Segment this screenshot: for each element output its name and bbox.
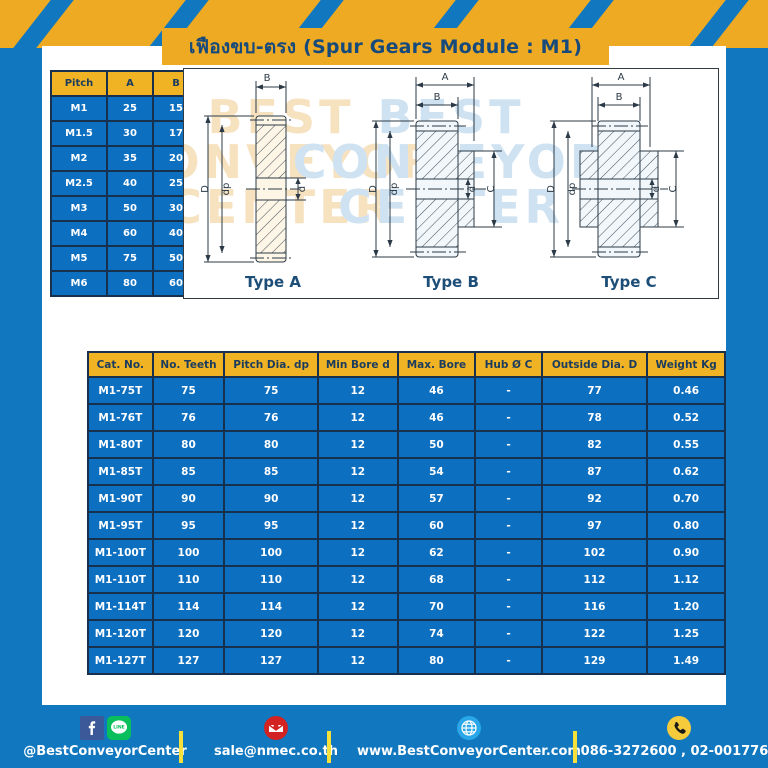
cell-weight: 1.25	[648, 621, 724, 646]
dim-label-a: A	[618, 72, 625, 83]
gear-type-diagram-panel: BEST CONVEYOR CENTER BEST CONVEYOR CENTE…	[183, 68, 719, 299]
pitch-cell-name: M2	[52, 147, 106, 170]
dim-label-dp: dp	[389, 183, 400, 196]
dim-label-d-bore: d	[467, 186, 478, 192]
table-row: M4 60 40	[52, 222, 198, 245]
table-row: M2.5 40 25	[52, 172, 198, 195]
cell-no-teeth: 75	[154, 378, 224, 403]
cell-outside-dia: 116	[543, 594, 646, 619]
cell-outside-dia: 97	[543, 513, 646, 538]
footer-email[interactable]: sale@nmec.co.th	[196, 705, 356, 768]
cell-pitch-dia: 80	[225, 432, 317, 457]
cell-pitch-dia: 90	[225, 486, 317, 511]
cell-outside-dia: 122	[543, 621, 646, 646]
cell-weight: 1.12	[648, 567, 724, 592]
cell-hub-dia: -	[476, 594, 541, 619]
pitch-cell-name: M2.5	[52, 172, 106, 195]
dim-label-a: A	[442, 72, 449, 83]
cell-no-teeth: 95	[154, 513, 224, 538]
footer-divider	[327, 731, 331, 763]
phone-icon[interactable]	[666, 715, 692, 741]
cell-max-bore: 68	[399, 567, 475, 592]
pitch-table: Pitch A B M1 25 15 M1.5 30 17 M2	[50, 70, 200, 297]
spec-col-header-pitch-dia: Pitch Dia. dp	[225, 353, 317, 376]
table-row: M1-100T 100 100 12 62 - 102 0.90	[89, 540, 724, 565]
cell-cat-no: M1-90T	[89, 486, 152, 511]
table-row: M1-76T 76 76 12 46 - 78 0.52	[89, 405, 724, 430]
cell-hub-dia: -	[476, 378, 541, 403]
gear-diagram-type-b: A B D dp d C Type B	[362, 69, 540, 298]
table-row: M1-95T 95 95 12 60 - 97 0.80	[89, 513, 724, 538]
pitch-cell-name: M1	[52, 97, 106, 120]
table-row: M1-75T 75 75 12 46 - 77 0.46	[89, 378, 724, 403]
pitch-cell-a: 50	[108, 197, 152, 220]
cell-min-bore: 12	[319, 594, 397, 619]
cell-max-bore: 50	[399, 432, 475, 457]
cell-no-teeth: 110	[154, 567, 224, 592]
cell-hub-dia: -	[476, 540, 541, 565]
pitch-cell-name: M1.5	[52, 122, 106, 145]
dim-label-dp: dp	[221, 183, 232, 196]
table-row: M1 25 15	[52, 97, 198, 120]
cell-weight: 0.70	[648, 486, 724, 511]
page-title: เฟืองขบ-ตรง (Spur Gears Module : M1)	[189, 32, 582, 62]
cell-hub-dia: -	[476, 432, 541, 457]
cell-min-bore: 12	[319, 459, 397, 484]
cell-pitch-dia: 120	[225, 621, 317, 646]
table-row: M1-127T 127 127 12 80 - 129 1.49	[89, 648, 724, 673]
cell-max-bore: 70	[399, 594, 475, 619]
cell-min-bore: 12	[319, 405, 397, 430]
cell-max-bore: 80	[399, 648, 475, 673]
footer-divider	[573, 731, 577, 763]
pitch-cell-name: M4	[52, 222, 106, 245]
cell-cat-no: M1-80T	[89, 432, 152, 457]
table-row: M1-90T 90 90 12 57 - 92 0.70	[89, 486, 724, 511]
cell-weight: 1.20	[648, 594, 724, 619]
dim-label-d-bore: d	[651, 186, 662, 192]
cell-hub-dia: -	[476, 405, 541, 430]
cell-no-teeth: 127	[154, 648, 224, 673]
pitch-cell-name: M6	[52, 272, 106, 295]
cell-no-teeth: 80	[154, 432, 224, 457]
cell-outside-dia: 92	[543, 486, 646, 511]
table-row: M5 75 50	[52, 247, 198, 270]
dim-label-d-outside: D	[200, 185, 211, 193]
cell-pitch-dia: 85	[225, 459, 317, 484]
cell-no-teeth: 120	[154, 621, 224, 646]
pitch-cell-a: 60	[108, 222, 152, 245]
cell-max-bore: 54	[399, 459, 475, 484]
footer-divider	[179, 731, 183, 763]
pitch-cell-a: 35	[108, 147, 152, 170]
cell-hub-dia: -	[476, 486, 541, 511]
pitch-cell-a: 30	[108, 122, 152, 145]
table-row: M1-120T 120 120 12 74 - 122 1.25	[89, 621, 724, 646]
spec-col-header-max-bore: Max. Bore	[399, 353, 475, 376]
table-row: M6 80 60	[52, 272, 198, 295]
table-row: M1-85T 85 85 12 54 - 87 0.62	[89, 459, 724, 484]
cell-cat-no: M1-95T	[89, 513, 152, 538]
cell-min-bore: 12	[319, 486, 397, 511]
cell-outside-dia: 129	[543, 648, 646, 673]
cell-outside-dia: 87	[543, 459, 646, 484]
table-row: M1-114T 114 114 12 70 - 116 1.20	[89, 594, 724, 619]
cell-no-teeth: 114	[154, 594, 224, 619]
spec-col-header-hub-dia: Hub Ø C	[476, 353, 541, 376]
table-row: M1.5 30 17	[52, 122, 198, 145]
table-row: M2 35 20	[52, 147, 198, 170]
footer-website-label: www.BestConveyorCenter.com	[357, 744, 581, 759]
cell-weight: 0.46	[648, 378, 724, 403]
footer-phone-label: 086-3272600 , 02-0017766	[581, 744, 768, 759]
pitch-cell-a: 40	[108, 172, 152, 195]
cell-pitch-dia: 114	[225, 594, 317, 619]
spec-col-header-outside-dia: Outside Dia. D	[543, 353, 646, 376]
cell-min-bore: 12	[319, 648, 397, 673]
pitch-table-header-row: Pitch A B	[52, 72, 198, 95]
cell-max-bore: 74	[399, 621, 475, 646]
pitch-cell-name: M3	[52, 197, 106, 220]
cell-hub-dia: -	[476, 648, 541, 673]
dim-label-c: C	[486, 185, 497, 192]
cell-hub-dia: -	[476, 621, 541, 646]
gear-diagram-type-a: B D dp d Type A	[184, 69, 362, 298]
gear-type-label-a: Type A	[184, 273, 362, 291]
cell-max-bore: 62	[399, 540, 475, 565]
cell-min-bore: 12	[319, 567, 397, 592]
dim-label-d-outside: D	[368, 185, 379, 193]
cell-min-bore: 12	[319, 378, 397, 403]
cell-max-bore: 46	[399, 378, 475, 403]
footer-website[interactable]: www.BestConveyorCenter.com	[344, 705, 594, 768]
svg-text:LINE: LINE	[113, 724, 125, 730]
cell-min-bore: 12	[319, 540, 397, 565]
cell-pitch-dia: 75	[225, 378, 317, 403]
cell-pitch-dia: 100	[225, 540, 317, 565]
email-icon[interactable]	[263, 715, 289, 741]
cell-no-teeth: 90	[154, 486, 224, 511]
page-title-bar: เฟืองขบ-ตรง (Spur Gears Module : M1)	[162, 28, 609, 65]
spec-table-header-row: Cat. No. No. Teeth Pitch Dia. dp Min Bor…	[89, 353, 724, 376]
cell-max-bore: 46	[399, 405, 475, 430]
gear-type-label-b: Type B	[362, 273, 540, 291]
cell-pitch-dia: 76	[225, 405, 317, 430]
cell-cat-no: M1-100T	[89, 540, 152, 565]
line-icon[interactable]: LINE	[107, 716, 131, 740]
cell-weight: 0.52	[648, 405, 724, 430]
gear-diagram-type-c: A B D dp d C Type C	[540, 69, 718, 298]
cell-outside-dia: 77	[543, 378, 646, 403]
cell-hub-dia: -	[476, 567, 541, 592]
cell-weight: 1.49	[648, 648, 724, 673]
cell-pitch-dia: 110	[225, 567, 317, 592]
dim-label-d-outside: D	[546, 185, 557, 193]
pitch-cell-name: M5	[52, 247, 106, 270]
footer-email-label: sale@nmec.co.th	[214, 744, 338, 759]
gear-type-label-c: Type C	[540, 273, 718, 291]
pitch-col-header-pitch: Pitch	[52, 72, 106, 95]
table-row: M1-110T 110 110 12 68 - 112 1.12	[89, 567, 724, 592]
pitch-cell-a: 80	[108, 272, 152, 295]
cell-outside-dia: 78	[543, 405, 646, 430]
dim-label-b: B	[434, 92, 441, 103]
cell-hub-dia: -	[476, 459, 541, 484]
cell-cat-no: M1-120T	[89, 621, 152, 646]
spec-col-header-no-teeth: No. Teeth	[154, 353, 224, 376]
cell-max-bore: 60	[399, 513, 475, 538]
spec-col-header-min-bore: Min Bore d	[319, 353, 397, 376]
cell-cat-no: M1-110T	[89, 567, 152, 592]
footer-social-label: @BestConveyorCenter	[23, 744, 187, 759]
dim-label-d-bore: d	[297, 186, 308, 192]
cell-pitch-dia: 95	[225, 513, 317, 538]
spec-table: Cat. No. No. Teeth Pitch Dia. dp Min Bor…	[87, 351, 726, 675]
spec-col-header-cat-no: Cat. No.	[89, 353, 152, 376]
cell-cat-no: M1-114T	[89, 594, 152, 619]
cell-no-teeth: 85	[154, 459, 224, 484]
spec-col-header-weight: Weight Kg	[648, 353, 724, 376]
dim-label-c: C	[668, 185, 679, 192]
pitch-cell-a: 25	[108, 97, 152, 120]
table-row: M1-80T 80 80 12 50 - 82 0.55	[89, 432, 724, 457]
cell-cat-no: M1-127T	[89, 648, 152, 673]
cell-min-bore: 12	[319, 513, 397, 538]
cell-weight: 0.55	[648, 432, 724, 457]
pitch-cell-a: 75	[108, 247, 152, 270]
dim-label-b: B	[616, 92, 623, 103]
cell-cat-no: M1-75T	[89, 378, 152, 403]
cell-max-bore: 57	[399, 486, 475, 511]
cell-min-bore: 12	[319, 621, 397, 646]
facebook-icon[interactable]	[80, 716, 104, 740]
cell-outside-dia: 102	[543, 540, 646, 565]
dim-label-b: B	[264, 73, 271, 84]
page-root: เฟืองขบ-ตรง (Spur Gears Module : M1) Pit…	[0, 0, 768, 768]
globe-icon[interactable]	[456, 715, 482, 741]
footer-social[interactable]: LINE @BestConveyorCenter	[10, 705, 200, 768]
table-row: M3 50 30	[52, 197, 198, 220]
cell-outside-dia: 82	[543, 432, 646, 457]
cell-cat-no: M1-76T	[89, 405, 152, 430]
pitch-col-header-a: A	[108, 72, 152, 95]
cell-pitch-dia: 127	[225, 648, 317, 673]
cell-no-teeth: 100	[154, 540, 224, 565]
cell-outside-dia: 112	[543, 567, 646, 592]
content-panel: เฟืองขบ-ตรง (Spur Gears Module : M1) Pit…	[42, 46, 726, 705]
footer-phone[interactable]: 086-3272600 , 02-0017766	[590, 705, 768, 768]
cell-cat-no: M1-85T	[89, 459, 152, 484]
cell-min-bore: 12	[319, 432, 397, 457]
cell-weight: 0.62	[648, 459, 724, 484]
cell-weight: 0.80	[648, 513, 724, 538]
cell-hub-dia: -	[476, 513, 541, 538]
cell-no-teeth: 76	[154, 405, 224, 430]
cell-weight: 0.90	[648, 540, 724, 565]
footer-contact-bar: LINE @BestConveyorCenter sale@nmec.co.	[0, 705, 768, 768]
dim-label-dp: dp	[567, 183, 578, 196]
